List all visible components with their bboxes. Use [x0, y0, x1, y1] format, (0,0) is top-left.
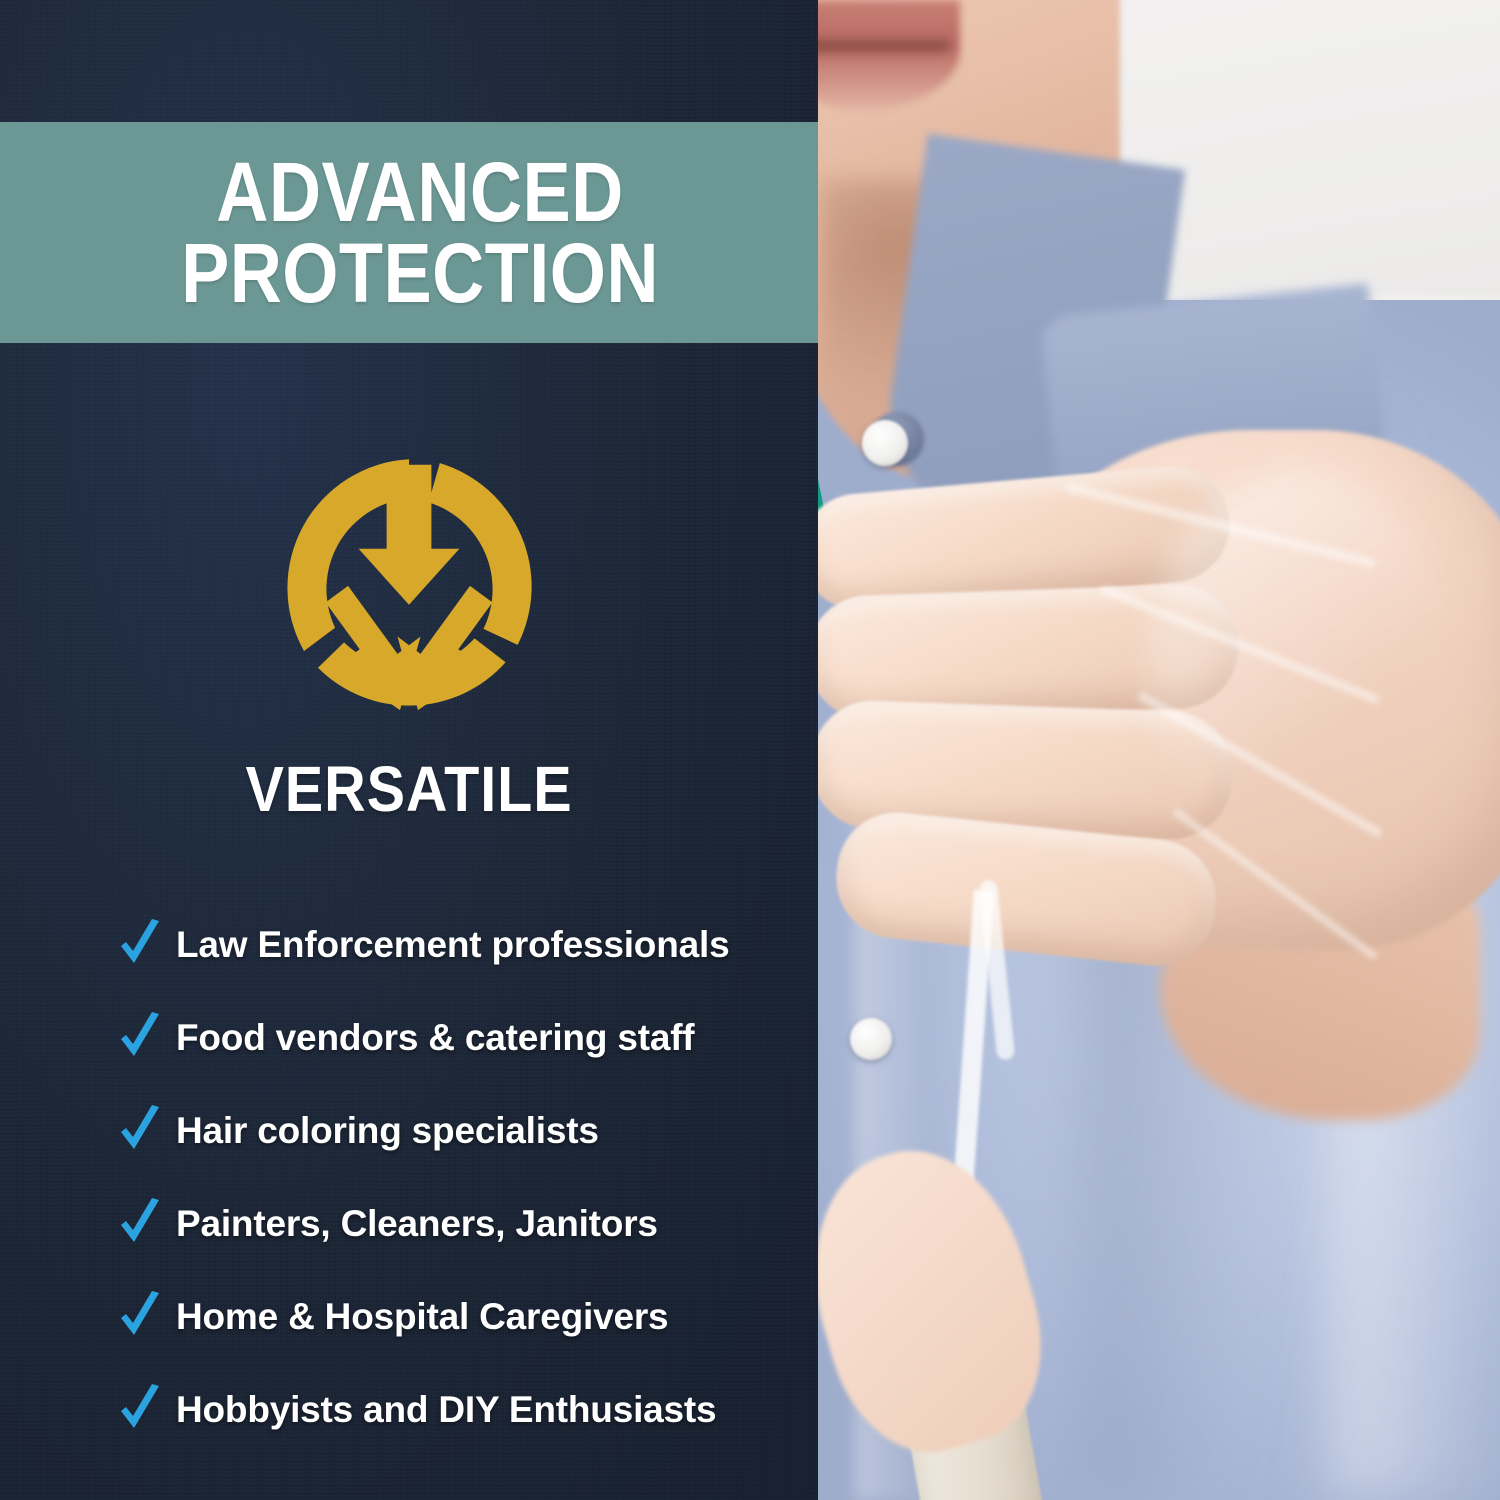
- list-item-label: Home & Hospital Caregivers: [176, 1296, 668, 1338]
- list-item: Hobbyists and DIY Enthusiasts: [118, 1363, 818, 1456]
- list-item-label: Hobbyists and DIY Enthusiasts: [176, 1389, 716, 1431]
- list-item: Food vendors & catering staff: [118, 991, 818, 1084]
- list-item-label: Law Enforcement professionals: [176, 924, 729, 966]
- checkmark-icon: [118, 1198, 162, 1250]
- versatile-icon-wrapper: [0, 448, 818, 728]
- versatile-cycle-icon: [269, 448, 549, 728]
- list-item: Law Enforcement professionals: [118, 898, 818, 991]
- list-item-label: Painters, Cleaners, Janitors: [176, 1203, 658, 1245]
- checkmark-icon: [118, 1012, 162, 1064]
- checkmark-icon: [118, 1291, 162, 1343]
- list-item: Hair coloring specialists: [118, 1084, 818, 1177]
- photo-shirt-button-lower: [850, 1018, 892, 1060]
- feature-label: VERSATILE: [41, 752, 777, 826]
- audience-checklist: Law Enforcement professionals Food vendo…: [118, 898, 818, 1456]
- photo-shirt-button-upper: [862, 420, 908, 466]
- list-item-label: Hair coloring specialists: [176, 1110, 599, 1152]
- left-info-panel: ADVANCED PROTECTION: [0, 0, 818, 1500]
- checkmark-icon: [118, 919, 162, 971]
- checkmark-icon: [118, 1105, 162, 1157]
- list-item-label: Food vendors & catering staff: [176, 1017, 694, 1059]
- list-item: Painters, Cleaners, Janitors: [118, 1177, 818, 1270]
- checkmark-icon: [118, 1384, 162, 1436]
- headline-banner: ADVANCED PROTECTION: [0, 122, 818, 343]
- headline-text: ADVANCED PROTECTION: [159, 152, 659, 313]
- product-feature-image: ADVANCED PROTECTION: [0, 0, 1500, 1500]
- list-item: Home & Hospital Caregivers: [118, 1270, 818, 1363]
